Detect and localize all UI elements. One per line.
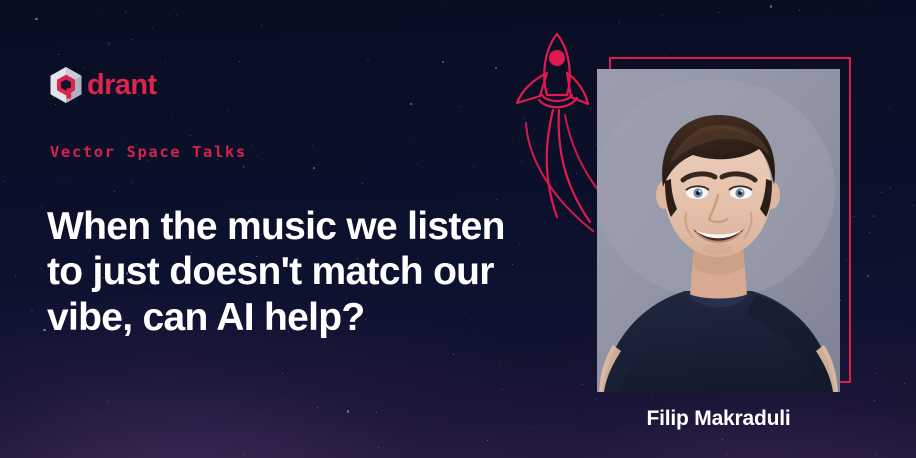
vector-space-talks-banner: drant Vector Space Talks When the music … (0, 0, 916, 458)
speaker-name: Filip Makraduli (597, 407, 840, 431)
qdrant-wordmark: drant (87, 71, 157, 100)
speaker-photo (597, 69, 840, 392)
headline-title: When the music we listen to just doesn't… (47, 204, 517, 340)
series-label: Vector Space Talks (50, 143, 247, 161)
qdrant-hexagon-logo-icon (49, 66, 83, 104)
qdrant-logo[interactable]: drant (49, 66, 157, 104)
